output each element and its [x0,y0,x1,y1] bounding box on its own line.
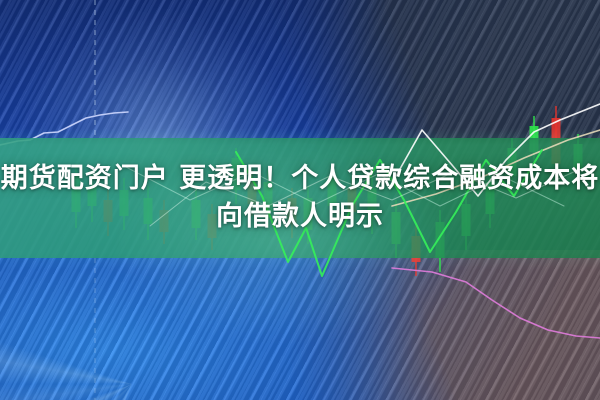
chart-series-pink-curve [392,268,600,338]
headline-line-1: 期货配资门户 更透明！个人贷款综合融资成本将 [0,160,600,198]
banner-headline: 期货配资门户 更透明！个人贷款综合融资成本将 向借款人明示 [0,160,600,236]
promo-banner: 期货配资门户 更透明！个人贷款综合融资成本将 向借款人明示 [0,0,600,400]
headline-line-2: 向借款人明示 [0,198,600,236]
